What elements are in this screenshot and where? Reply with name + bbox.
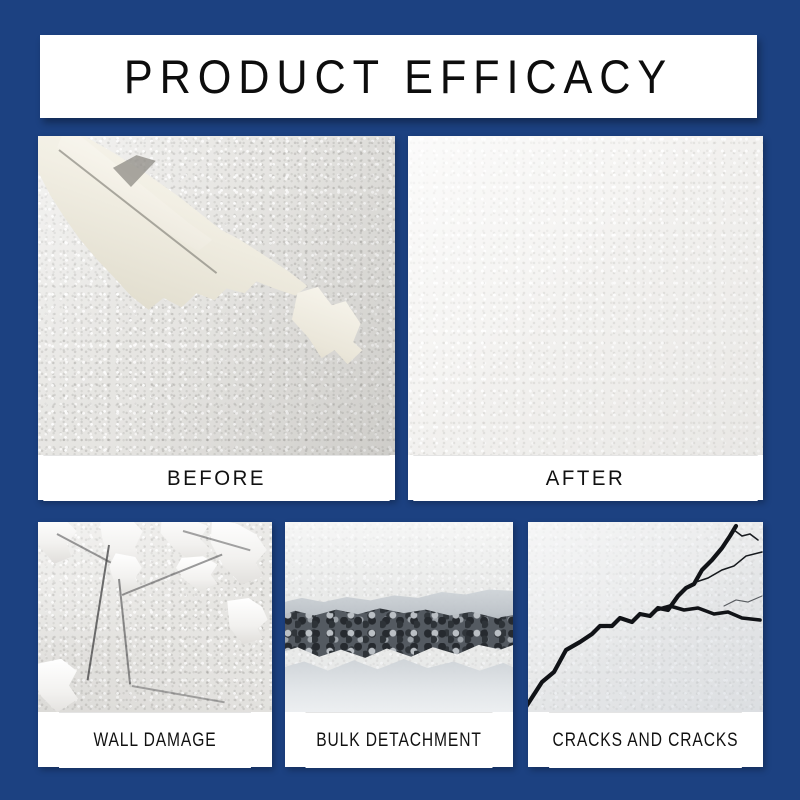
caption-cracks: CRACKS AND CRACKS xyxy=(549,712,742,768)
caption-after: AFTER xyxy=(413,455,757,501)
panel-bulk-detachment[interactable]: BULK DETACHMENT xyxy=(285,522,513,767)
crack-lines xyxy=(528,522,763,712)
caption-bulk-detachment: BULK DETACHMENT xyxy=(306,712,493,768)
caption-wall-damage: WALL DAMAGE xyxy=(59,712,251,768)
lighting-overlay xyxy=(408,136,763,455)
image-bulk-detachment xyxy=(285,522,513,712)
page-title: PRODUCT EFFICACY xyxy=(124,53,673,100)
image-wall-damage xyxy=(38,522,272,712)
poster-canvas: PRODUCT EFFICACY BEFORE AFTER xyxy=(0,0,800,800)
header-band: PRODUCT EFFICACY xyxy=(40,35,757,118)
image-cracks xyxy=(528,522,763,712)
caption-before: BEFORE xyxy=(43,455,389,501)
panel-cracks[interactable]: CRACKS AND CRACKS xyxy=(528,522,763,767)
image-before xyxy=(38,136,395,455)
panel-wall-damage[interactable]: WALL DAMAGE xyxy=(38,522,272,767)
panel-before[interactable]: BEFORE xyxy=(38,136,395,500)
image-after xyxy=(408,136,763,455)
panel-after[interactable]: AFTER xyxy=(408,136,763,500)
